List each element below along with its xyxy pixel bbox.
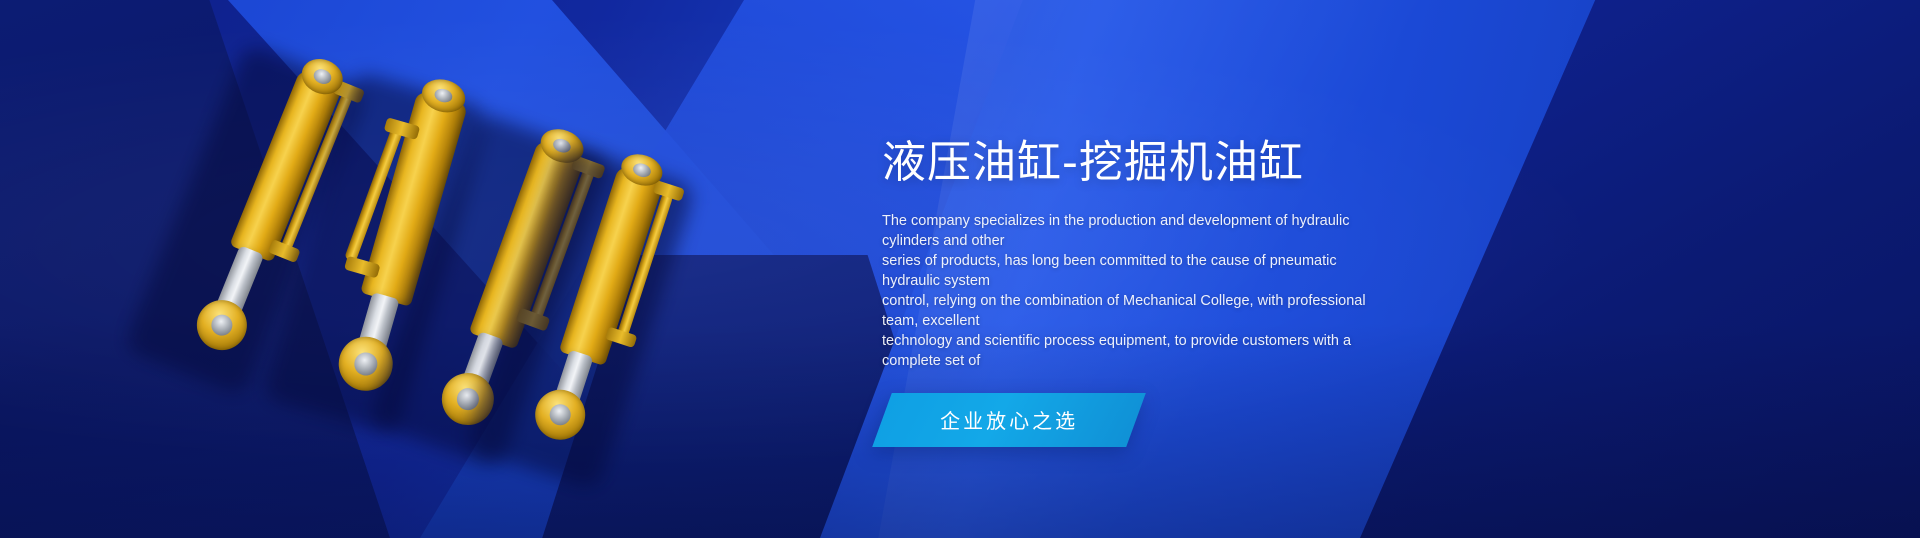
- product-image-hydraulic-cylinders: [150, 20, 770, 520]
- hero-banner: 液压油缸-挖掘机油缸 The company specializes in th…: [0, 0, 1920, 538]
- cta-button-label: 企业放心之选: [940, 405, 1078, 434]
- banner-description: The company specializes in the productio…: [882, 211, 1387, 371]
- description-line-3: control, relying on the combination of M…: [882, 291, 1387, 331]
- cylinder-bore: [352, 350, 380, 378]
- cylinder-bore: [631, 161, 652, 178]
- description-line-2: series of products, has long been commit…: [882, 251, 1387, 291]
- description-line-1: The company specializes in the productio…: [882, 211, 1387, 251]
- cylinder-bore: [433, 87, 454, 105]
- cylinder-bore: [547, 402, 573, 428]
- cylinder-bore: [311, 67, 333, 87]
- cylinder-bore: [208, 311, 235, 338]
- banner-content: 液压油缸-挖掘机油缸 The company specializes in th…: [882, 138, 1402, 447]
- cta-container: 企业放心之选: [882, 393, 1402, 447]
- cta-button[interactable]: 企业放心之选: [872, 393, 1146, 447]
- description-line-4: technology and scientific process equipm…: [882, 331, 1387, 371]
- banner-headline: 液压油缸-挖掘机油缸: [882, 138, 1402, 189]
